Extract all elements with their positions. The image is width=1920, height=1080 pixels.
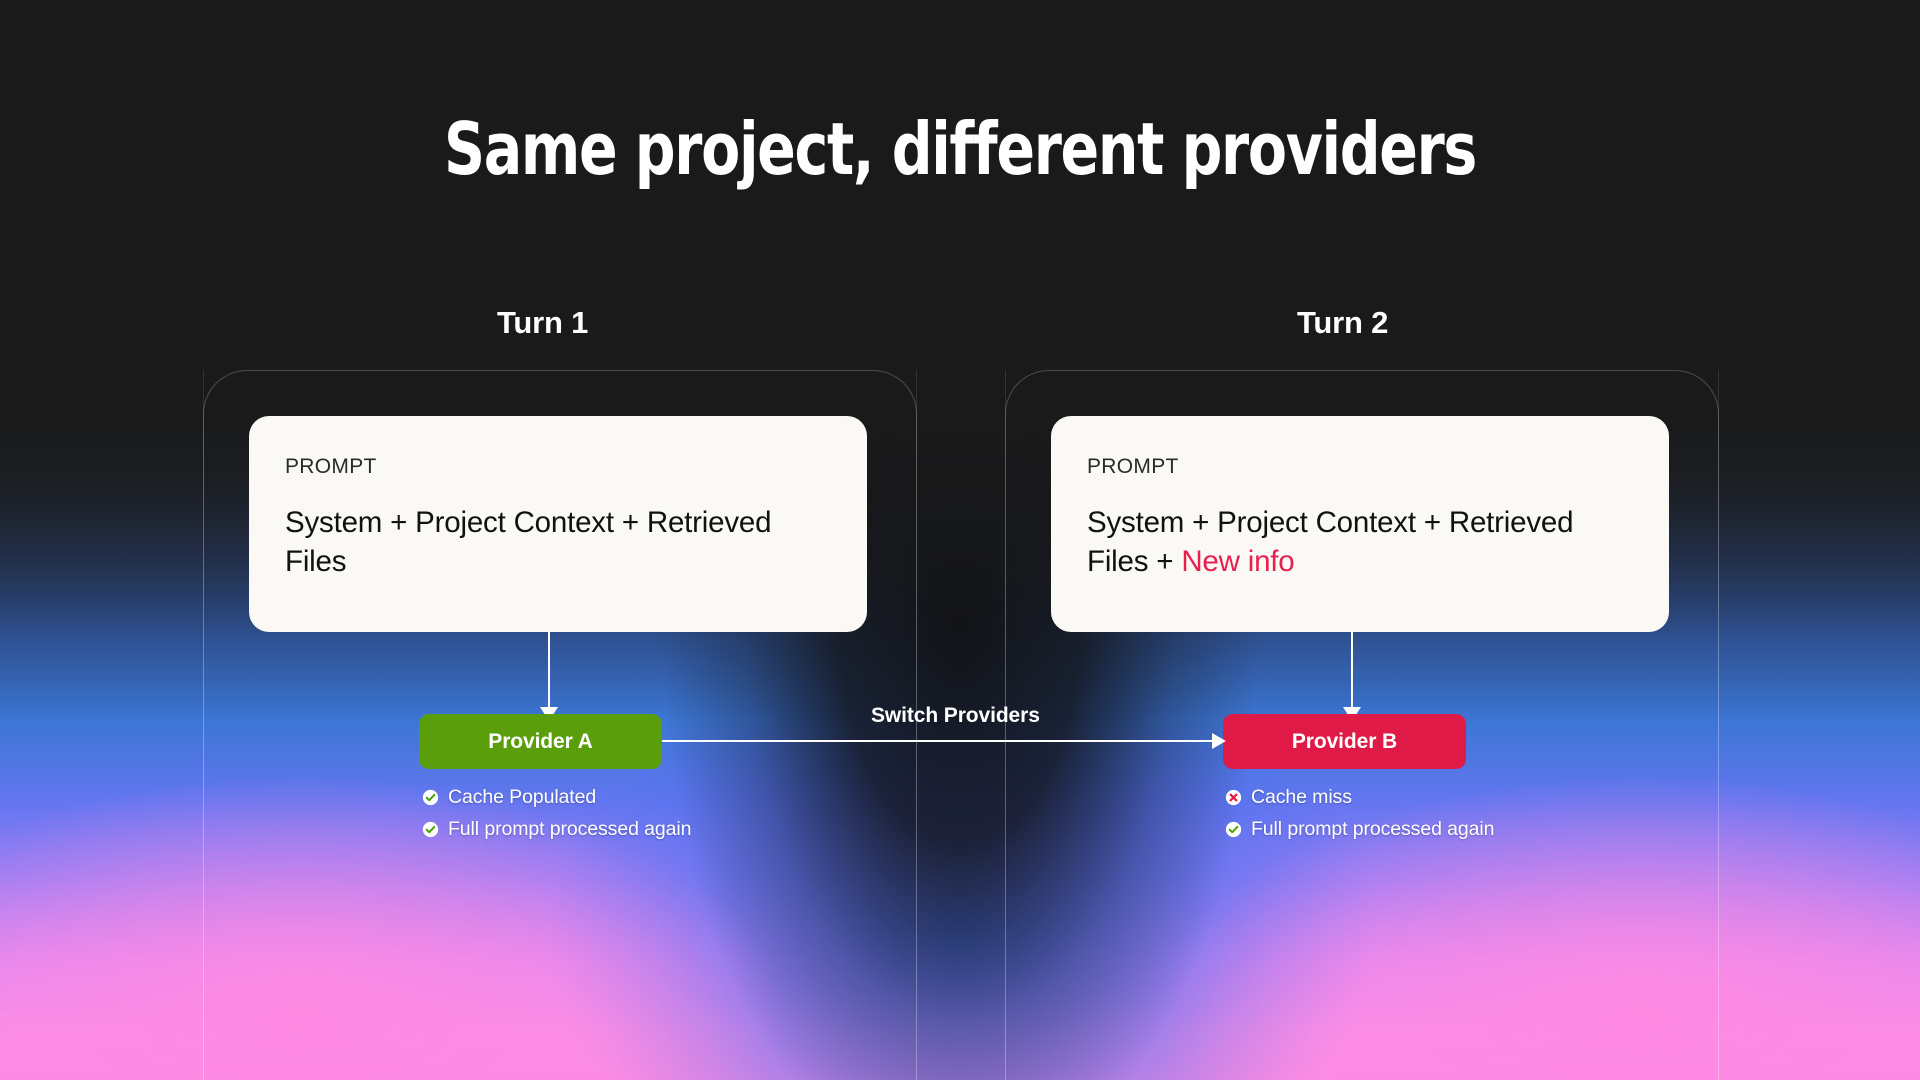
prompt-text-1: System + Project Context + Retrieved Fil…: [285, 506, 771, 578]
turn-frame-1-left-seam: [203, 370, 204, 1080]
status-list-turn-1: Cache Populated Full prompt processed ag…: [422, 786, 691, 850]
provider-b-label: Provider B: [1292, 730, 1397, 754]
status-item: Cache miss: [1225, 786, 1494, 809]
provider-b-pill[interactable]: Provider B: [1223, 714, 1466, 769]
status-label: Full prompt processed again: [448, 818, 691, 841]
check-circle-icon: [422, 821, 439, 838]
turn-frame-2-right-seam: [1718, 370, 1719, 1080]
status-label: Cache miss: [1251, 786, 1352, 809]
prompt-body-2: System + Project Context + Retrieved Fil…: [1087, 503, 1633, 581]
x-circle-icon: [1225, 789, 1242, 806]
status-item: Full prompt processed again: [1225, 818, 1494, 841]
provider-a-pill[interactable]: Provider A: [419, 714, 662, 769]
diagram-canvas: Same project, different providers Turn 1…: [0, 0, 1920, 1080]
prompt-kicker-1: PROMPT: [285, 456, 831, 477]
check-circle-icon: [1225, 821, 1242, 838]
switch-providers-label: Switch Providers: [871, 704, 1040, 728]
prompt-card-turn-1: PROMPT System + Project Context + Retrie…: [249, 416, 867, 632]
prompt-text-2: System + Project Context + Retrieved Fil…: [1087, 506, 1573, 578]
turn-label-2: Turn 2: [1297, 305, 1388, 341]
prompt-card-turn-2: PROMPT System + Project Context + Retrie…: [1051, 416, 1669, 632]
prompt-body-1: System + Project Context + Retrieved Fil…: [285, 503, 831, 581]
provider-a-label: Provider A: [488, 730, 592, 754]
arrow-head-icon: [1212, 733, 1226, 749]
prompt-highlight-new-info: New info: [1181, 545, 1294, 578]
status-label: Full prompt processed again: [1251, 818, 1494, 841]
status-label: Cache Populated: [448, 786, 596, 809]
arrow-line: [662, 740, 1224, 742]
check-circle-icon: [422, 789, 439, 806]
arrow-switch-providers: [662, 740, 1224, 743]
page-title: Same project, different providers: [115, 113, 1805, 185]
status-item: Full prompt processed again: [422, 818, 691, 841]
prompt-kicker-2: PROMPT: [1087, 456, 1633, 477]
turn-label-1: Turn 1: [497, 305, 588, 341]
status-list-turn-2: Cache miss Full prompt processed again: [1225, 786, 1494, 850]
status-item: Cache Populated: [422, 786, 691, 809]
